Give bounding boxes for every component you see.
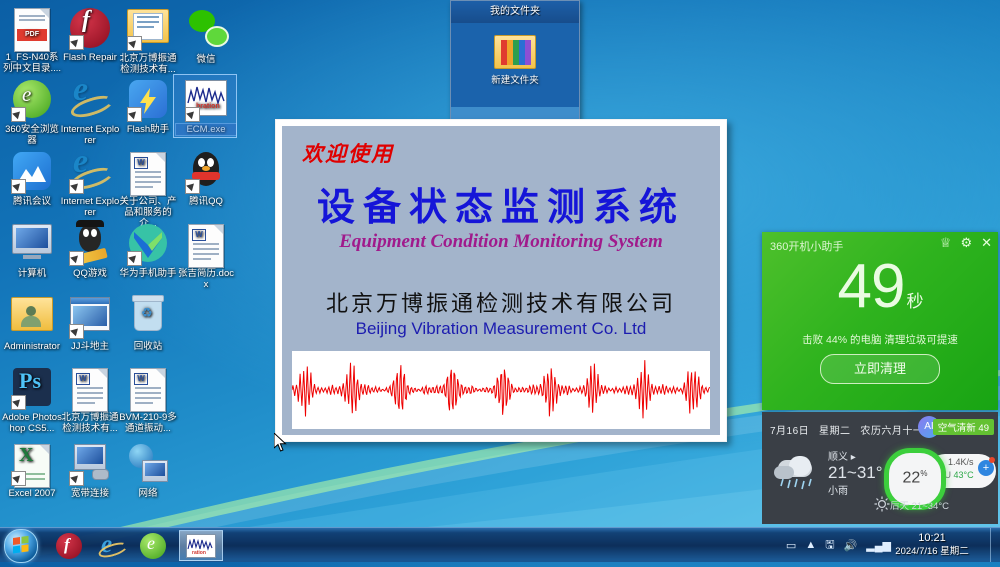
internet-explorer-icon: e: [69, 152, 111, 194]
desktop-icon-internet-explorer-2[interactable]: e Internet Explorer: [60, 148, 120, 218]
folder-icon: [127, 9, 169, 51]
excel-icon: X: [11, 444, 53, 486]
desktop-icon-company-word-doc[interactable]: W 北京万博振通检测技术有...: [60, 364, 120, 434]
folder-window-item-label: 新建文件夹: [491, 75, 539, 86]
desktop-icon-label: 计算机: [2, 268, 62, 279]
desktop-icon-photoshop-cs5[interactable]: Ps Adobe Photoshop CS5...: [2, 364, 62, 434]
widget-360-value-row: 49秒: [762, 256, 998, 333]
ecm-icon: bration: [185, 80, 227, 122]
vibration-waveform: [292, 351, 710, 429]
weather-tomorrow: 后天 21~34°C: [890, 498, 949, 512]
desktop-icon-label: 1_FS-N40系列中文目录....: [2, 52, 62, 74]
splash-company-cn: 北京万博振通检测技术有限公司: [282, 286, 720, 318]
clock-time: 10:21: [886, 531, 978, 545]
weather-aqi: 空气清新 49: [933, 419, 994, 434]
broadband-icon: [69, 444, 111, 486]
shortcut-arrow-icon: [185, 107, 200, 122]
qq-game-icon: [69, 224, 111, 266]
desktop-icon-pdf-doc[interactable]: PDF 1_FS-N40系列中文目录....: [2, 4, 62, 74]
desktop-icon-label: 张吉简历.docx: [176, 268, 236, 290]
shortcut-arrow-icon: [11, 471, 26, 486]
shortcut-arrow-icon: [127, 251, 142, 266]
desktop-icon-recycle-bin[interactable]: ♻ 回收站: [118, 292, 178, 352]
desktop-icon-label: BVM-210-9多通道振动...: [118, 412, 178, 434]
sun-icon: [874, 496, 890, 512]
widget-360-value: 49: [838, 252, 905, 321]
desktop-icon-broadband-connection[interactable]: 宽带连接: [60, 440, 120, 499]
tray-volume-icon[interactable]: 🔊: [844, 539, 858, 552]
desktop-icon-excel-2007[interactable]: X Excel 2007: [2, 440, 62, 499]
folder-window-strip: [451, 107, 579, 119]
widget-360-boot-assistant[interactable]: 360开机小助手 ♕ ⚙ ✕ 49秒 击败 44% 的电脑 清理垃圾可提速 立即…: [762, 232, 998, 410]
tencent-meeting-icon: [11, 152, 53, 194]
folder-icon: [494, 35, 536, 69]
desktop-icon-label: Administrator: [2, 341, 62, 352]
shirt-icon[interactable]: ♕: [940, 236, 952, 250]
desktop-icon-qq-games[interactable]: QQ游戏: [60, 220, 120, 279]
desktop-icon-tencent-meeting[interactable]: 腾讯会议: [2, 148, 62, 207]
desktop-icon-ecm-exe[interactable]: bration ECM.exe: [176, 76, 236, 135]
shortcut-arrow-icon: [127, 36, 142, 51]
network-icon: [127, 444, 169, 486]
weather-lunar: 农历六月十一: [860, 426, 923, 437]
word-document-icon: W: [127, 368, 169, 410]
clock-date: 2024/7/16 星期二: [886, 545, 978, 559]
quicklaunch-browser-360[interactable]: e: [140, 533, 166, 559]
bolt-icon: [127, 80, 169, 122]
splash-panel: 欢迎使用 设备状态监测系统 Equipment Condition Monito…: [282, 126, 720, 435]
computer-icon: [11, 224, 53, 266]
desktop-icon-flash-repair[interactable]: f Flash Repair: [60, 4, 120, 63]
desktop-icon-wechat[interactable]: 微信: [176, 4, 236, 65]
ecm-icon: ration: [186, 534, 216, 558]
desktop-icon-label: 腾讯QQ: [176, 196, 236, 207]
tray-device-icon[interactable]: 🖫: [825, 536, 834, 555]
weather-location: 顺义 ▸: [828, 448, 883, 463]
desktop-icon-label: 360安全浏览器: [2, 124, 62, 146]
word-document-icon: W: [69, 368, 111, 410]
shortcut-arrow-icon: [127, 107, 142, 122]
shortcut-arrow-icon: [69, 324, 84, 339]
desktop-icon-label: 网络: [118, 488, 178, 499]
desktop-icon-label: Internet Explorer: [60, 196, 120, 218]
tray-hidden-icon[interactable]: ▭: [786, 539, 796, 552]
qq-penguin-icon: [185, 152, 227, 194]
desktop-icon-internet-explorer-1[interactable]: e Internet Explorer: [60, 76, 120, 146]
desktop-icon-bvm-210-doc[interactable]: W BVM-210-9多通道振动...: [118, 364, 178, 434]
desktop-icon-network[interactable]: 网络: [118, 440, 178, 499]
desktop-icon-label: JJ斗地主: [60, 341, 120, 352]
desktop-icon-label: Internet Explorer: [60, 124, 120, 146]
shortcut-arrow-icon: [69, 471, 84, 486]
desktop-icon-label: 宽带连接: [60, 488, 120, 499]
humidity-unit: %: [920, 469, 927, 478]
internet-explorer-icon: e: [69, 80, 111, 122]
notification-dot: [989, 457, 995, 463]
weather-rain-cloud-icon: [772, 456, 824, 496]
desktop-icon-label: Flash Repair: [60, 52, 120, 63]
huawei-assistant-icon: [127, 224, 169, 266]
weather-temperature-block: 顺义 ▸ 21~31° 小雨: [828, 448, 883, 497]
folder-window[interactable]: 我的文件夹 新建文件夹: [450, 0, 580, 120]
widget-360-subtitle: 击败 44% 的电脑 清理垃圾可提速: [762, 332, 998, 347]
widget-360-unit: 秒: [906, 292, 922, 311]
splash-title-cn: 设备状态监测系统: [282, 176, 720, 231]
shortcut-arrow-icon: [69, 35, 84, 50]
word-document-icon: W: [127, 152, 169, 194]
humidity-value: 22: [903, 469, 921, 486]
desktop-icon-resume-docx[interactable]: W 张吉简历.docx: [176, 220, 236, 290]
desktop-icon-label: Excel 2007: [2, 488, 62, 499]
weather-aqi-pill: 空气清新 49: [933, 419, 994, 435]
shortcut-arrow-icon: [69, 251, 84, 266]
taskbar[interactable]: f e e ration ▭ ▲ 🖫 🔊 ▂▄▆ 10:21 2024/7/16…: [0, 527, 1000, 562]
desktop-icon-label: 回收站: [118, 341, 178, 352]
widget-360-header-icons: ♕ ⚙ ✕: [940, 236, 992, 250]
weather-date: 7月16日: [770, 426, 809, 437]
recycle-bin-icon: ♻: [127, 297, 169, 339]
pdf-icon: PDF: [11, 8, 53, 50]
browser-360-icon: e: [11, 80, 53, 122]
desktop-icon-label: 华为手机助手: [118, 268, 178, 279]
desktop-icon-jj-landlord[interactable]: JJ斗地主: [60, 292, 120, 352]
desktop-icon-browser-360[interactable]: e 360安全浏览器: [2, 76, 62, 146]
splash-welcome-text: 欢迎使用: [302, 138, 394, 168]
folder-window-titlebar: 我的文件夹: [451, 1, 579, 23]
user-folder-icon: [11, 297, 53, 339]
widget-weather[interactable]: 7月16日 星期二 农历六月十一 AI 空气清新 49 顺义 ▸ 21~31° …: [762, 412, 998, 524]
weather-temp-range: 21~31°: [828, 463, 883, 482]
desktop-icon-administrator[interactable]: Administrator: [2, 292, 62, 352]
desktop-icon-tencent-qq[interactable]: 腾讯QQ: [176, 148, 236, 207]
close-icon[interactable]: ✕: [981, 236, 992, 250]
splash-title-en: Equipment Condition Monitoring System: [282, 231, 720, 253]
net-speed: 1.4K/s: [948, 457, 974, 467]
folder-window-item[interactable]: 新建文件夹: [470, 35, 560, 86]
shortcut-arrow-icon: [11, 395, 26, 410]
splash-company-en: Beijing Vibration Measurement Co. Ltd: [282, 319, 720, 339]
desktop-icon-label: 腾讯会议: [2, 196, 62, 207]
desktop-icon-company-folder[interactable]: 北京万博振通检测技术有...: [118, 4, 178, 75]
weather-weekday: 星期二: [819, 426, 851, 437]
desktop-icon-label: QQ游戏: [60, 268, 120, 279]
desktop-icon-label: 北京万博振通检测技术有...: [60, 412, 120, 434]
wechat-icon: [185, 10, 227, 52]
desktop-icon-flash-helper[interactable]: Flash助手: [118, 76, 178, 135]
gear-icon[interactable]: ⚙: [960, 236, 972, 250]
splash-window[interactable]: 欢迎使用 设备状态监测系统 Equipment Condition Monito…: [275, 119, 727, 442]
tray-chevron-up-icon[interactable]: ▲: [805, 539, 816, 551]
shortcut-arrow-icon: [11, 179, 26, 194]
show-desktop-button[interactable]: [990, 528, 1000, 562]
weather-condition: 小雨: [828, 482, 883, 497]
desktop-icon-label: 微信: [176, 54, 236, 65]
quicklaunch-flash-player[interactable]: f: [56, 533, 82, 559]
desktop-icon-huawei-phone-assistant[interactable]: 华为手机助手: [118, 220, 178, 279]
desktop-icon-computer[interactable]: 计算机: [2, 220, 62, 279]
widget-360-title: 360开机小助手: [770, 238, 843, 254]
taskbar-clock[interactable]: 10:21 2024/7/16 星期二: [886, 531, 978, 559]
folder-window-body: 新建文件夹: [451, 23, 579, 119]
windows-logo-icon: [5, 530, 37, 562]
desktop-icon-label: Flash助手: [118, 124, 178, 135]
shortcut-arrow-icon: [11, 107, 26, 122]
widget-360-clean-button[interactable]: 立即清理: [820, 354, 940, 384]
taskbar-window-ecm[interactable]: ration: [179, 530, 223, 561]
desktop-icon-label: 北京万博振通检测技术有...: [118, 53, 178, 75]
flash-icon: f: [69, 8, 111, 50]
weather-date-row: 7月16日 星期二 农历六月十一: [770, 422, 923, 437]
shortcut-arrow-icon: [69, 179, 84, 194]
start-button[interactable]: [4, 529, 38, 563]
window-app-icon: [69, 297, 111, 339]
splash-waveform-panel: [292, 351, 710, 429]
desktop-icon-label: Adobe Photoshop CS5...: [2, 412, 62, 434]
shortcut-arrow-icon: [185, 179, 200, 194]
quicklaunch-internet-explorer[interactable]: e: [98, 533, 124, 559]
desktop-icon-company-intro-doc[interactable]: W 关于公司、产品和服务的介...: [118, 148, 178, 229]
photoshop-icon: Ps: [11, 368, 53, 410]
word-document-icon: W: [185, 224, 227, 266]
